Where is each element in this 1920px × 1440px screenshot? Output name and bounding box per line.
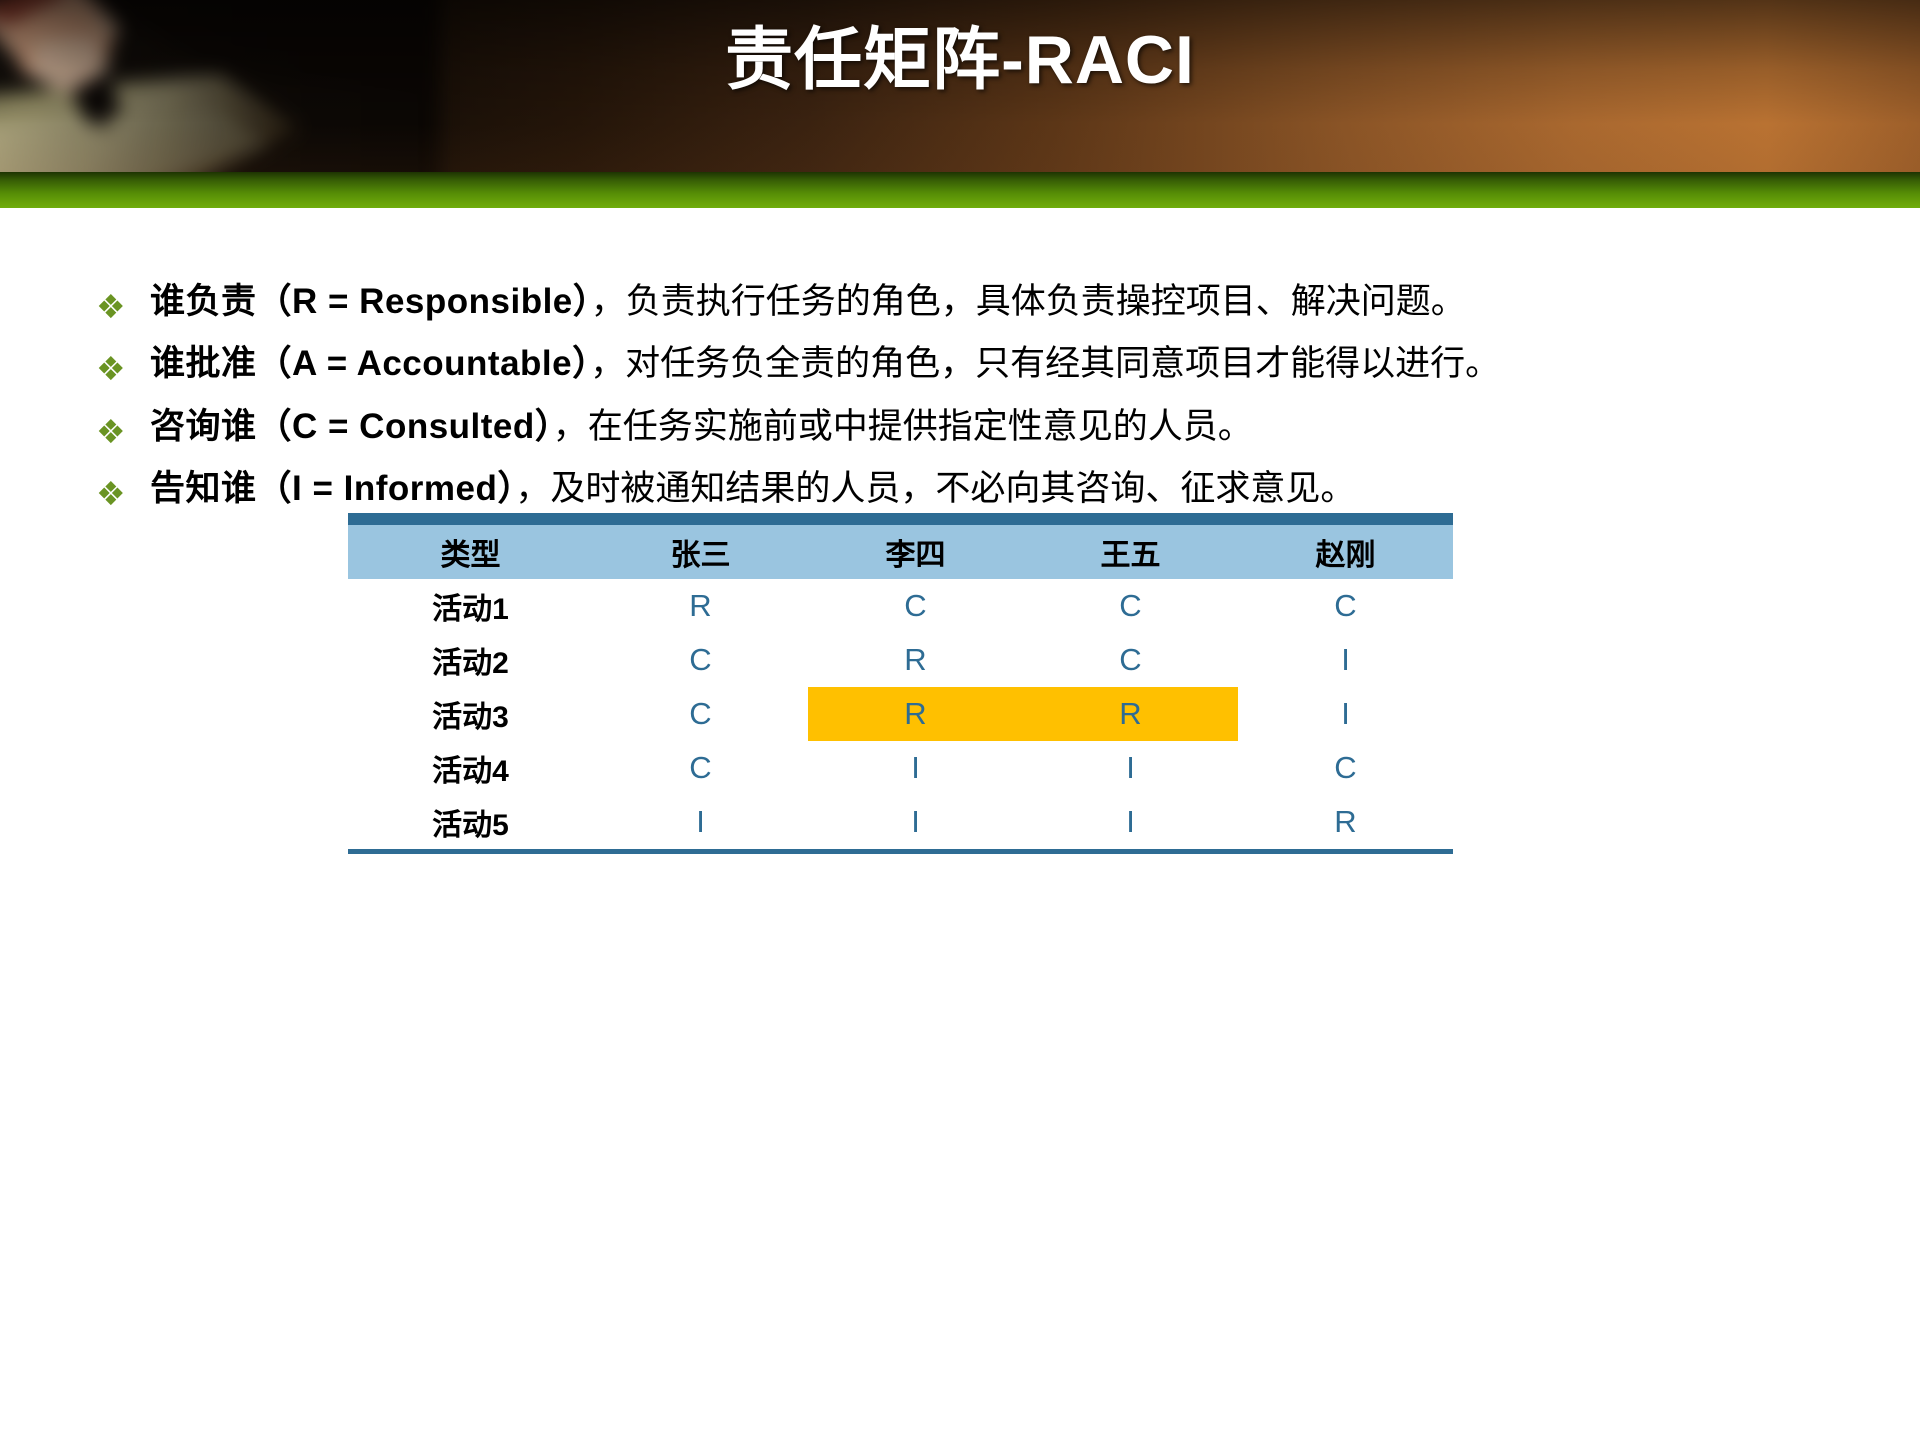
list-item: ❖ 咨询谁（C = Consulted），在任务实施前或中提供指定性意见的人员。 [96, 407, 1886, 452]
diamond-bullet-icon: ❖ [96, 344, 150, 389]
diamond-bullet-icon: ❖ [96, 282, 150, 327]
bullet-rest: ，及时被通知结果的人员，不必向其咨询、征求意见。 [515, 469, 1355, 508]
diamond-bullet-icon: ❖ [96, 469, 150, 514]
table-row: 活动2 C R C I [348, 633, 1453, 687]
bullet-text: 告知谁（I = Informed），及时被通知结果的人员，不必向其咨询、征求意见… [150, 469, 1886, 508]
bullet-rest: ，在任务实施前或中提供指定性意见的人员。 [553, 407, 1253, 446]
page-title: 责任矩阵-RACI [0, 18, 1920, 103]
bullet-rest: ，负责执行任务的角色，具体负责操控项目、解决问题。 [591, 282, 1466, 321]
cell-zhaogang: R [1238, 795, 1453, 849]
cell-zhangsan: C [593, 633, 808, 687]
table-header: 类型 张三 李四 王五 赵刚 [348, 522, 1453, 579]
bullet-rest: ，对任务负全责的角色，只有经其同意项目才能得以进行。 [590, 344, 1500, 383]
cell-lisi: I [808, 795, 1023, 849]
cell-wangwu: C [1023, 579, 1238, 633]
table-header-row: 类型 张三 李四 王五 赵刚 [348, 522, 1453, 579]
bullet-strong: 告知谁（I = Informed） [150, 469, 515, 508]
cell-zhangsan: R [593, 579, 808, 633]
table-body: 活动1 R C C C 活动2 C R C I 活动3 C R [348, 579, 1453, 849]
green-accent-bar [0, 172, 1920, 208]
table-bottom-rule [348, 849, 1453, 854]
cell-zhangsan: C [593, 687, 808, 741]
row-label: 活动2 [348, 633, 593, 687]
cell-wangwu-highlighted: R [1023, 687, 1238, 741]
bullet-strong: 谁负责（R = Responsible） [150, 282, 591, 321]
cell-wangwu: I [1023, 795, 1238, 849]
list-item: ❖ 谁批准（A = Accountable），对任务负全责的角色，只有经其同意项… [96, 344, 1886, 389]
cell-zhaogang: I [1238, 633, 1453, 687]
cell-lisi: I [808, 741, 1023, 795]
cell-lisi-highlighted: R [808, 687, 1023, 741]
column-header-zhaogang: 赵刚 [1238, 522, 1453, 579]
table-row: 活动1 R C C C [348, 579, 1453, 633]
cell-wangwu: I [1023, 741, 1238, 795]
table-row: 活动3 C R R I [348, 687, 1453, 741]
table-top-rule [348, 513, 1453, 519]
bullet-strong: 谁批准（A = Accountable） [150, 344, 590, 383]
cell-lisi: R [808, 633, 1023, 687]
column-header-lisi: 李四 [808, 522, 1023, 579]
cell-zhaogang: I [1238, 687, 1453, 741]
bullet-strong: 咨询谁（C = Consulted） [150, 407, 553, 446]
list-item: ❖ 告知谁（I = Informed），及时被通知结果的人员，不必向其咨询、征求… [96, 469, 1886, 514]
cell-zhangsan: I [593, 795, 808, 849]
header-banner: 责任矩阵-RACI [0, 0, 1920, 172]
table-row: 活动4 C I I C [348, 741, 1453, 795]
row-label: 活动3 [348, 687, 593, 741]
bullet-text: 谁负责（R = Responsible），负责执行任务的角色，具体负责操控项目、… [150, 282, 1886, 321]
row-label: 活动1 [348, 579, 593, 633]
cell-zhangsan: C [593, 741, 808, 795]
cell-lisi: C [808, 579, 1023, 633]
table-row: 活动5 I I I R [348, 795, 1453, 849]
bullet-text: 谁批准（A = Accountable），对任务负全责的角色，只有经其同意项目才… [150, 344, 1886, 383]
column-header-zhangsan: 张三 [593, 522, 808, 579]
raci-table: 类型 张三 李四 王五 赵刚 活动1 R C C C 活动2 C [348, 519, 1453, 849]
column-header-wangwu: 王五 [1023, 522, 1238, 579]
raci-definition-list: ❖ 谁负责（R = Responsible），负责执行任务的角色，具体负责操控项… [96, 282, 1886, 531]
row-label: 活动4 [348, 741, 593, 795]
diamond-bullet-icon: ❖ [96, 407, 150, 452]
bullet-text: 咨询谁（C = Consulted），在任务实施前或中提供指定性意见的人员。 [150, 407, 1886, 446]
cell-zhaogang: C [1238, 579, 1453, 633]
column-header-type: 类型 [348, 522, 593, 579]
cell-zhaogang: C [1238, 741, 1453, 795]
row-label: 活动5 [348, 795, 593, 849]
list-item: ❖ 谁负责（R = Responsible），负责执行任务的角色，具体负责操控项… [96, 282, 1886, 327]
raci-matrix: 类型 张三 李四 王五 赵刚 活动1 R C C C 活动2 C [348, 513, 1453, 854]
cell-wangwu: C [1023, 633, 1238, 687]
